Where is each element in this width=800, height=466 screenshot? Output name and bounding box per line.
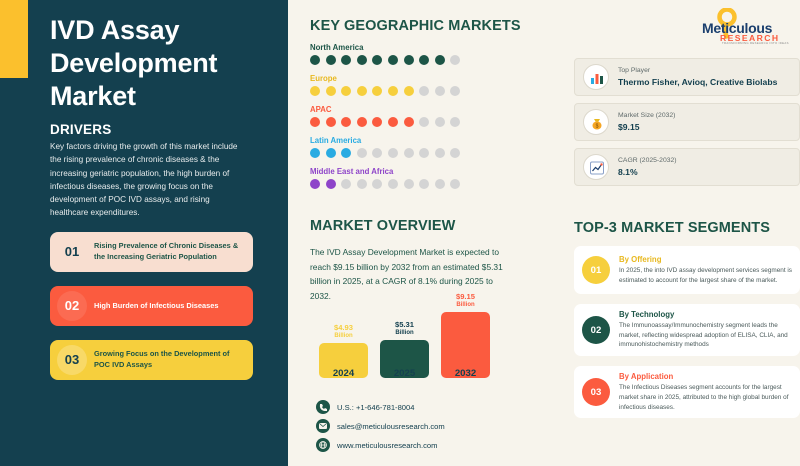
geo-dot-filled: [388, 117, 398, 127]
geo-dot-empty: [388, 179, 398, 189]
geo-region-label: Middle East and Africa: [310, 167, 560, 176]
driver-card-02[interactable]: 02 High Burden of Infectious Diseases: [50, 286, 253, 326]
stat-value: Thermo Fisher, Avioq, Creative Biolabs: [618, 76, 777, 88]
geo-dot-empty: [419, 148, 429, 158]
segment-description: The Infectious Diseases segment accounts…: [619, 383, 792, 412]
bar-value-number: $5.31: [395, 320, 414, 329]
geo-dot-filled: [404, 55, 414, 65]
driver-card-03[interactable]: 03 Growing Focus on the Development of P…: [50, 340, 253, 380]
geo-dot-empty: [419, 86, 429, 96]
contact-row-2[interactable]: www.meticulousresearch.com: [316, 436, 546, 454]
left-sidebar: IVD Assay Development Market DRIVERS Key…: [0, 0, 288, 466]
geo-dot-scale: [310, 179, 560, 189]
geo-dot-empty: [357, 148, 367, 158]
geo-dot-filled: [419, 55, 429, 65]
geo-dot-empty: [357, 179, 367, 189]
contact-row-0[interactable]: U.S.: +1-646-781-8004: [316, 398, 546, 416]
top-market-segments-section: TOP-3 MARKET SEGMENTS 01By OfferingIn 20…: [574, 220, 800, 418]
driver-label: Rising Prevalence of Chronic Diseases & …: [94, 241, 253, 262]
logo-tagline: TRANSFORMING RESEARCH INTO IDEAS: [722, 41, 789, 45]
segment-number: 01: [582, 256, 610, 284]
geo-dot-filled: [341, 148, 351, 158]
segment-title: By Technology: [619, 310, 792, 319]
geo-dot-scale: [310, 117, 560, 127]
geo-dot-empty: [450, 179, 460, 189]
geo-dot-filled: [310, 179, 320, 189]
driver-label: Growing Focus on the Development of POC …: [94, 349, 253, 370]
geo-dot-filled: [388, 86, 398, 96]
bar-value-unit: Billion: [319, 333, 368, 340]
stat-text-block: Top PlayerThermo Fisher, Avioq, Creative…: [618, 66, 777, 89]
bar-group-2024: $4.93Billion2024: [319, 324, 368, 378]
geo-dot-empty: [450, 148, 460, 158]
contact-info-list: U.S.: +1-646-781-8004sales@meticulousres…: [316, 398, 546, 455]
geo-dot-empty: [388, 148, 398, 158]
geo-dot-scale: [310, 55, 560, 65]
driver-label: High Burden of Infectious Diseases: [94, 301, 227, 312]
geo-dot-filled: [404, 117, 414, 127]
geo-dot-filled: [404, 86, 414, 96]
geo-dot-filled: [372, 117, 382, 127]
bar-x-tick-label: 2024: [319, 368, 368, 379]
page-title: IVD Assay Development Market: [50, 14, 275, 113]
geo-row-middle-east-and-africa: Middle East and Africa: [310, 167, 560, 189]
phone-icon: [316, 400, 330, 414]
bar-value-label: $5.31Billion: [380, 321, 429, 337]
geo-dot-empty: [341, 179, 351, 189]
bar-chart-icon: [583, 64, 609, 90]
geo-dot-filled: [357, 86, 367, 96]
geo-dot-empty: [419, 117, 429, 127]
bar-group-2025: $5.31Billion2025: [380, 321, 429, 378]
geo-dot-filled: [388, 55, 398, 65]
geo-dot-filled: [372, 55, 382, 65]
bar-value-unit: Billion: [380, 330, 429, 337]
geo-region-label: Europe: [310, 74, 560, 83]
segment-card-02[interactable]: 02By TechnologyThe Immunoassay/Immunoche…: [574, 304, 800, 356]
stat-value: $9.15: [618, 121, 675, 133]
stat-value: 8.1%: [618, 166, 677, 178]
geo-dot-filled: [341, 86, 351, 96]
stat-card-1[interactable]: $Market Size (2032)$9.15: [574, 103, 800, 141]
stat-label: CAGR (2025-2032): [618, 156, 677, 166]
geo-row-apac: APAC: [310, 105, 560, 127]
geo-region-label: Latin America: [310, 136, 560, 145]
bar-x-tick-label: 2025: [380, 368, 429, 379]
geo-dot-filled: [310, 55, 320, 65]
geo-row-north-america: North America: [310, 43, 560, 65]
bar-value-label: $4.93Billion: [319, 324, 368, 340]
geo-dot-empty: [435, 117, 445, 127]
segment-description: In 2025, the into IVD assay development …: [619, 266, 792, 285]
geo-rows-container: North AmericaEuropeAPACLatin AmericaMidd…: [310, 43, 560, 189]
key-geographic-markets-section: KEY GEOGRAPHIC MARKETS North AmericaEuro…: [310, 18, 560, 189]
globe-icon: [316, 438, 330, 452]
geo-dot-empty: [435, 86, 445, 96]
bar-value-number: $9.15: [456, 292, 475, 301]
geo-dot-filled: [326, 86, 336, 96]
stat-text-block: Market Size (2032)$9.15: [618, 111, 675, 134]
contact-text: www.meticulousresearch.com: [337, 441, 437, 450]
geo-dot-filled: [326, 117, 336, 127]
drivers-body-text: Key factors driving the growth of this m…: [50, 140, 250, 220]
geo-dot-filled: [310, 117, 320, 127]
segment-text-block: By TechnologyThe Immunoassay/Immunochemi…: [619, 310, 792, 350]
segment-card-01[interactable]: 01By OfferingIn 2025, the into IVD assay…: [574, 246, 800, 294]
segment-card-03[interactable]: 03By ApplicationThe Infectious Diseases …: [574, 366, 800, 418]
meticulous-research-logo[interactable]: Meticulous RESEARCH TRANSFORMING RESEARC…: [700, 8, 796, 44]
bar-x-tick-label: 2032: [441, 368, 490, 379]
growth-chart-icon: [583, 154, 609, 180]
bar-value-number: $4.93: [334, 323, 353, 332]
geo-dot-filled: [341, 55, 351, 65]
bar-group-2032: $9.15Billion2032: [441, 293, 490, 378]
geo-row-latin-america: Latin America: [310, 136, 560, 158]
geo-dot-filled: [435, 55, 445, 65]
geo-dot-filled: [372, 86, 382, 96]
stat-label: Market Size (2032): [618, 111, 675, 121]
driver-number: 03: [50, 345, 94, 375]
stat-card-0[interactable]: Top PlayerThermo Fisher, Avioq, Creative…: [574, 58, 800, 96]
bar-value-unit: Billion: [441, 302, 490, 309]
segment-title: By Application: [619, 372, 792, 381]
geo-dot-empty: [450, 86, 460, 96]
stat-cards-container: Top PlayerThermo Fisher, Avioq, Creative…: [574, 58, 800, 193]
overview-section-title: MARKET OVERVIEW: [310, 218, 560, 234]
geo-row-europe: Europe: [310, 74, 560, 96]
segment-number: 03: [582, 378, 610, 406]
geo-dot-filled: [326, 179, 336, 189]
geo-dot-filled: [310, 148, 320, 158]
svg-text:$: $: [596, 124, 599, 130]
geo-dot-filled: [326, 55, 336, 65]
geo-dot-empty: [419, 179, 429, 189]
market-overview-section: MARKET OVERVIEW The IVD Assay Developmen…: [310, 218, 560, 304]
contact-text: sales@meticulousresearch.com: [337, 422, 445, 431]
money-bag-icon: $: [583, 109, 609, 135]
segment-title: By Offering: [619, 255, 792, 264]
market-size-bar-chart: $4.93Billion2024$5.31Billion2025$9.15Bil…: [316, 292, 496, 395]
stat-label: Top Player: [618, 66, 777, 76]
bar-value-label: $9.15Billion: [441, 293, 490, 309]
driver-card-01[interactable]: 01 Rising Prevalence of Chronic Diseases…: [50, 232, 253, 272]
drivers-heading: DRIVERS: [50, 122, 111, 137]
geo-dot-filled: [310, 86, 320, 96]
email-icon: [316, 419, 330, 433]
geo-dot-empty: [450, 117, 460, 127]
segments-section-title: TOP-3 MARKET SEGMENTS: [574, 220, 800, 236]
stat-text-block: CAGR (2025-2032)8.1%: [618, 156, 677, 179]
geo-dot-filled: [341, 117, 351, 127]
geo-dot-empty: [372, 148, 382, 158]
geo-region-label: APAC: [310, 105, 560, 114]
geo-dot-empty: [372, 179, 382, 189]
contact-row-1[interactable]: sales@meticulousresearch.com: [316, 417, 546, 435]
yellow-accent-tab: [0, 0, 28, 78]
segment-text-block: By ApplicationThe Infectious Diseases se…: [619, 372, 792, 412]
contact-text: U.S.: +1-646-781-8004: [337, 403, 414, 412]
stat-card-2[interactable]: CAGR (2025-2032)8.1%: [574, 148, 800, 186]
driver-number: 01: [50, 237, 94, 267]
segment-number: 02: [582, 316, 610, 344]
geo-dot-filled: [357, 117, 367, 127]
geo-dot-filled: [326, 148, 336, 158]
geo-region-label: North America: [310, 43, 560, 52]
geo-dot-empty: [435, 179, 445, 189]
geo-dot-scale: [310, 148, 560, 158]
segments-list: 01By OfferingIn 2025, the into IVD assay…: [574, 246, 800, 418]
geo-dot-filled: [357, 55, 367, 65]
segment-text-block: By OfferingIn 2025, the into IVD assay d…: [619, 255, 792, 285]
geo-dot-empty: [435, 148, 445, 158]
geo-dot-empty: [404, 148, 414, 158]
geo-dot-scale: [310, 86, 560, 96]
geo-dot-empty: [404, 179, 414, 189]
segment-description: The Immunoassay/Immunochemistry segment …: [619, 321, 792, 350]
driver-number: 02: [50, 291, 94, 321]
geo-section-title: KEY GEOGRAPHIC MARKETS: [310, 18, 560, 34]
geo-dot-empty: [450, 55, 460, 65]
